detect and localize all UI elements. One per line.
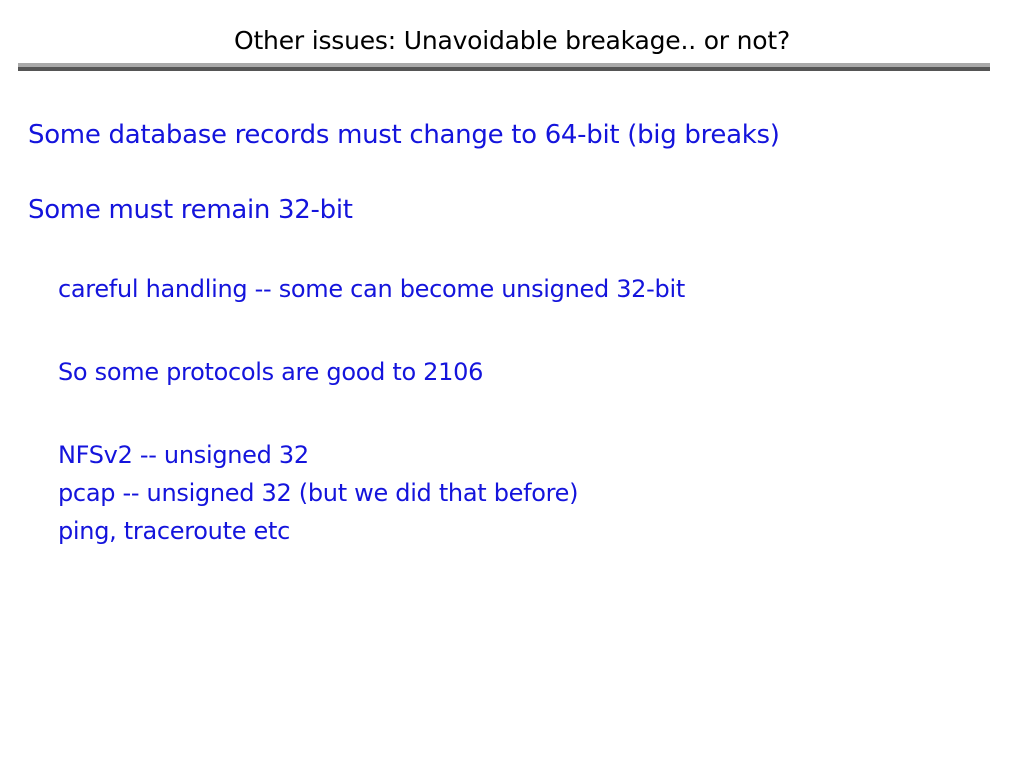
body-line-1: Some database records must change to 64-… (28, 120, 780, 150)
slide: Other issues: Unavoidable breakage.. or … (0, 0, 1024, 768)
body-line-3: careful handling -- some can become unsi… (58, 275, 685, 303)
body-line-5: NFSv2 -- unsigned 32 (58, 441, 309, 469)
body-line-2: Some must remain 32-bit (28, 195, 353, 225)
slide-body: Some database records must change to 64-… (0, 0, 1024, 768)
body-line-6: pcap -- unsigned 32 (but we did that bef… (58, 479, 578, 507)
body-line-7: ping, traceroute etc (58, 517, 290, 545)
body-line-4: So some protocols are good to 2106 (58, 358, 483, 386)
